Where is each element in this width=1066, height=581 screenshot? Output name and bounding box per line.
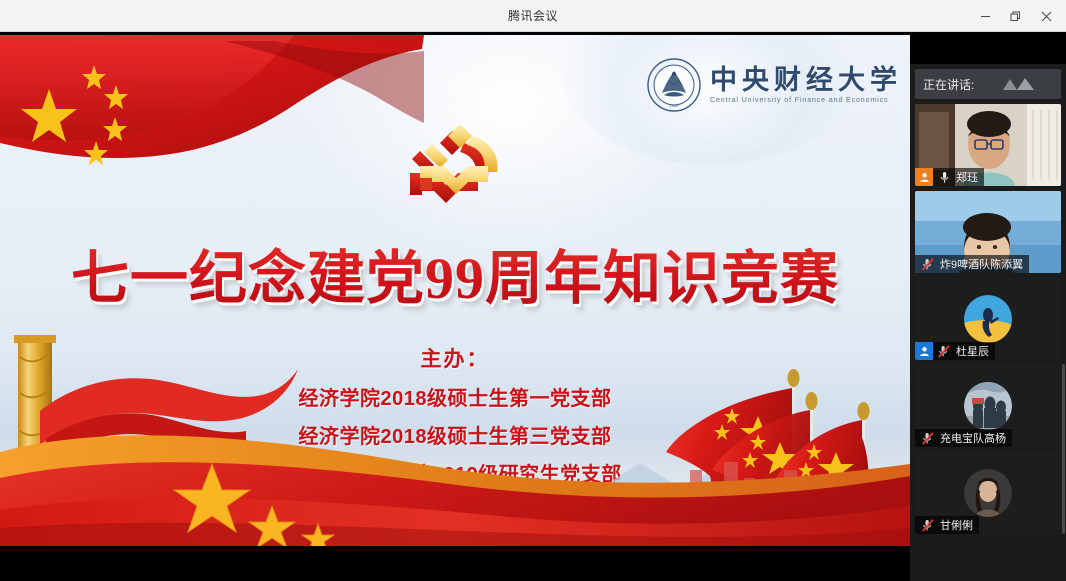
meeting-stage: 1949 中央财经大学 Central University of Financ… [0,32,1066,549]
participant-badge: 郑珏 [915,168,984,186]
participant-badge: 甘俐俐 [915,516,979,534]
participant-badge: 炸9啤酒队陈添翼 [915,255,1029,273]
mic-muted-icon [920,429,936,447]
cpc-party-emblem-icon [398,120,523,210]
participant-tile[interactable]: 甘俐俐 [915,452,1061,534]
person-icon [919,346,930,357]
participant-name: 郑珏 [956,169,978,185]
window-controls [970,0,1066,32]
mic-muted-icon [920,516,936,534]
mic-muted-icon [936,342,952,360]
slide-title: 七一纪念建党99周年知识竞赛 [0,231,910,315]
university-logo: 1949 中央财经大学 Central University of Financ… [646,57,902,113]
mic-on-icon [936,168,952,186]
close-button[interactable] [1030,0,1062,32]
person-icon [919,172,930,183]
participant-name: 杜星辰 [956,343,989,359]
active-speaker-label: 正在讲话: [923,76,974,93]
participant-tile[interactable]: 杜星辰 [915,278,1061,360]
participant-tile[interactable]: 炸9啤酒队陈添翼 [915,191,1061,273]
mic-muted-icon [920,255,936,273]
sound-wave-icon [1001,77,1035,96]
user-chip [915,342,933,360]
red-gold-wave-icon [0,406,910,546]
sidebar-scrollbar[interactable] [1062,364,1065,534]
minimize-icon [980,11,991,22]
restore-icon [1010,11,1021,22]
avatar [964,469,1012,517]
participant-name: 炸9啤酒队陈添翼 [940,256,1023,272]
university-name-en: Central University of Finance and Econom… [710,97,888,104]
host-chip [915,168,933,186]
svg-text:1949: 1949 [670,103,680,108]
minimize-button[interactable] [970,0,1000,32]
participant-sidebar: 正在讲话: [910,64,1066,581]
participant-name: 充电宝队高杨 [940,430,1006,446]
window-title: 腾讯会议 [508,7,558,24]
participant-name: 甘俐俐 [940,517,973,533]
university-name-cn: 中央财经大学 [710,66,902,94]
participant-badge: 充电宝队高杨 [915,429,1012,447]
chinese-flag-icon [0,35,424,195]
active-speaker-header: 正在讲话: [915,69,1061,99]
shared-slide[interactable]: 1949 中央财经大学 Central University of Financ… [0,35,910,546]
window-titlebar: 腾讯会议 [0,0,1066,32]
avatar [964,295,1012,343]
participant-badge: 杜星辰 [915,342,995,360]
participant-tile[interactable]: 充电宝队高杨 [915,365,1061,447]
close-icon [1041,11,1052,22]
university-seal-icon: 1949 [646,57,702,113]
avatar [964,382,1012,430]
maximize-button[interactable] [1000,0,1030,32]
participant-tile[interactable]: 郑珏 [915,104,1061,186]
